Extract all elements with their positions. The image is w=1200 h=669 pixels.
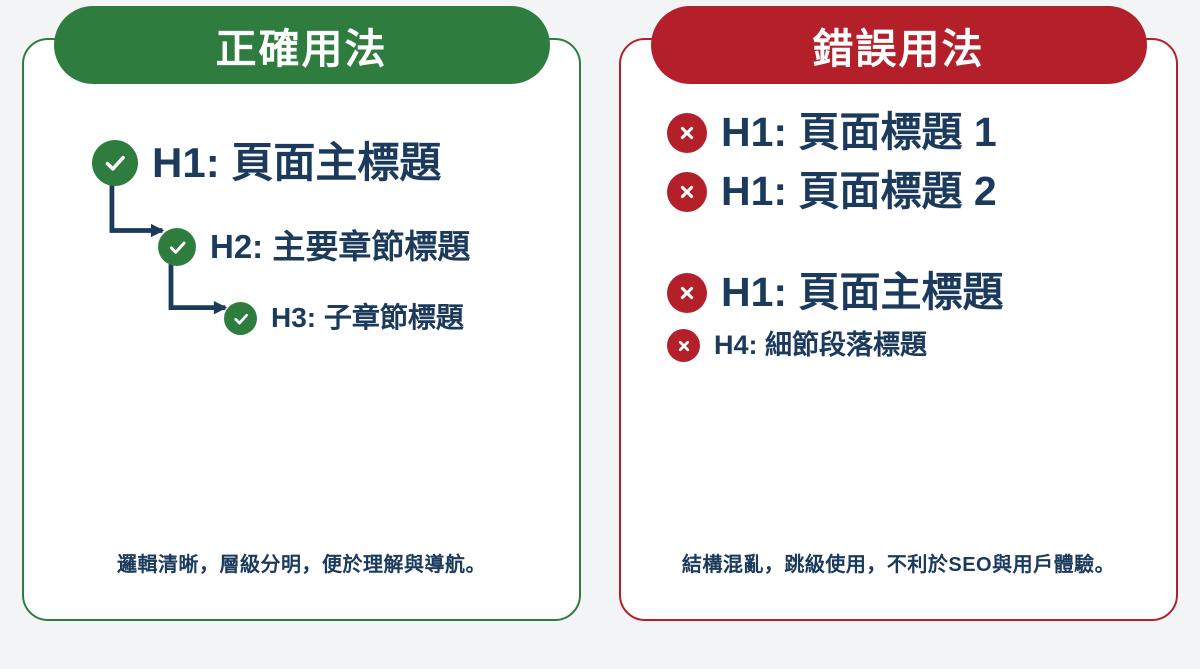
heading-label-h4: H4: 細節段落標題	[714, 331, 927, 361]
check-circle-icon	[224, 302, 257, 335]
x-circle-icon	[667, 273, 707, 313]
correct-usage-body: H1: 頁面主標題 H2: 主要章節標題	[50, 100, 553, 548]
heading-flat-list: H1: 頁面標題 1 H1: 頁面標題 2	[647, 100, 1150, 362]
x-circle-icon	[667, 172, 707, 212]
incorrect-usage-body: H1: 頁面標題 1 H1: 頁面標題 2	[647, 100, 1150, 548]
x-circle-icon	[667, 329, 700, 362]
comparison-infographic: 正確用法 H1: 頁面主標題	[0, 0, 1200, 669]
heading-row-h1-first: H1: 頁面標題 1	[667, 110, 1150, 155]
heading-hierarchy-tree: H1: 頁面主標題 H2: 主要章節標題	[50, 100, 553, 335]
heading-label-h2: H2: 主要章節標題	[210, 229, 470, 265]
heading-label-h1-third: H1: 頁面主標題	[721, 270, 1003, 315]
correct-usage-card: 正確用法 H1: 頁面主標題	[22, 38, 581, 621]
incorrect-usage-card: 錯誤用法 H1: 頁面標題 1	[619, 38, 1178, 621]
incorrect-usage-header-pill: 錯誤用法	[651, 6, 1147, 84]
heading-row-h1-second: H1: 頁面標題 2	[667, 169, 1150, 214]
x-circle-icon	[667, 113, 707, 153]
check-circle-icon	[158, 228, 196, 266]
heading-row-h3: H3: 子章節標題	[224, 302, 553, 335]
correct-usage-header-pill: 正確用法	[54, 6, 550, 84]
correct-usage-note: 邏輯清晰，層級分明，便於理解與導航。	[50, 548, 553, 619]
heading-row-h1: H1: 頁面主標題	[92, 140, 553, 186]
check-circle-icon	[92, 140, 138, 186]
heading-row-h2: H2: 主要章節標題	[158, 228, 553, 266]
heading-row-h1-third: H1: 頁面主標題	[667, 270, 1150, 315]
heading-label-h1: H1: 頁面主標題	[152, 140, 441, 186]
heading-label-h1-second: H1: 頁面標題 2	[721, 169, 997, 214]
heading-row-h4: H4: 細節段落標題	[667, 329, 1150, 362]
heading-label-h3: H3: 子章節標題	[271, 303, 464, 334]
heading-label-h1-first: H1: 頁面標題 1	[721, 110, 997, 155]
incorrect-usage-note: 結構混亂，跳級使用，不利於SEO與用戶體驗。	[647, 548, 1150, 619]
